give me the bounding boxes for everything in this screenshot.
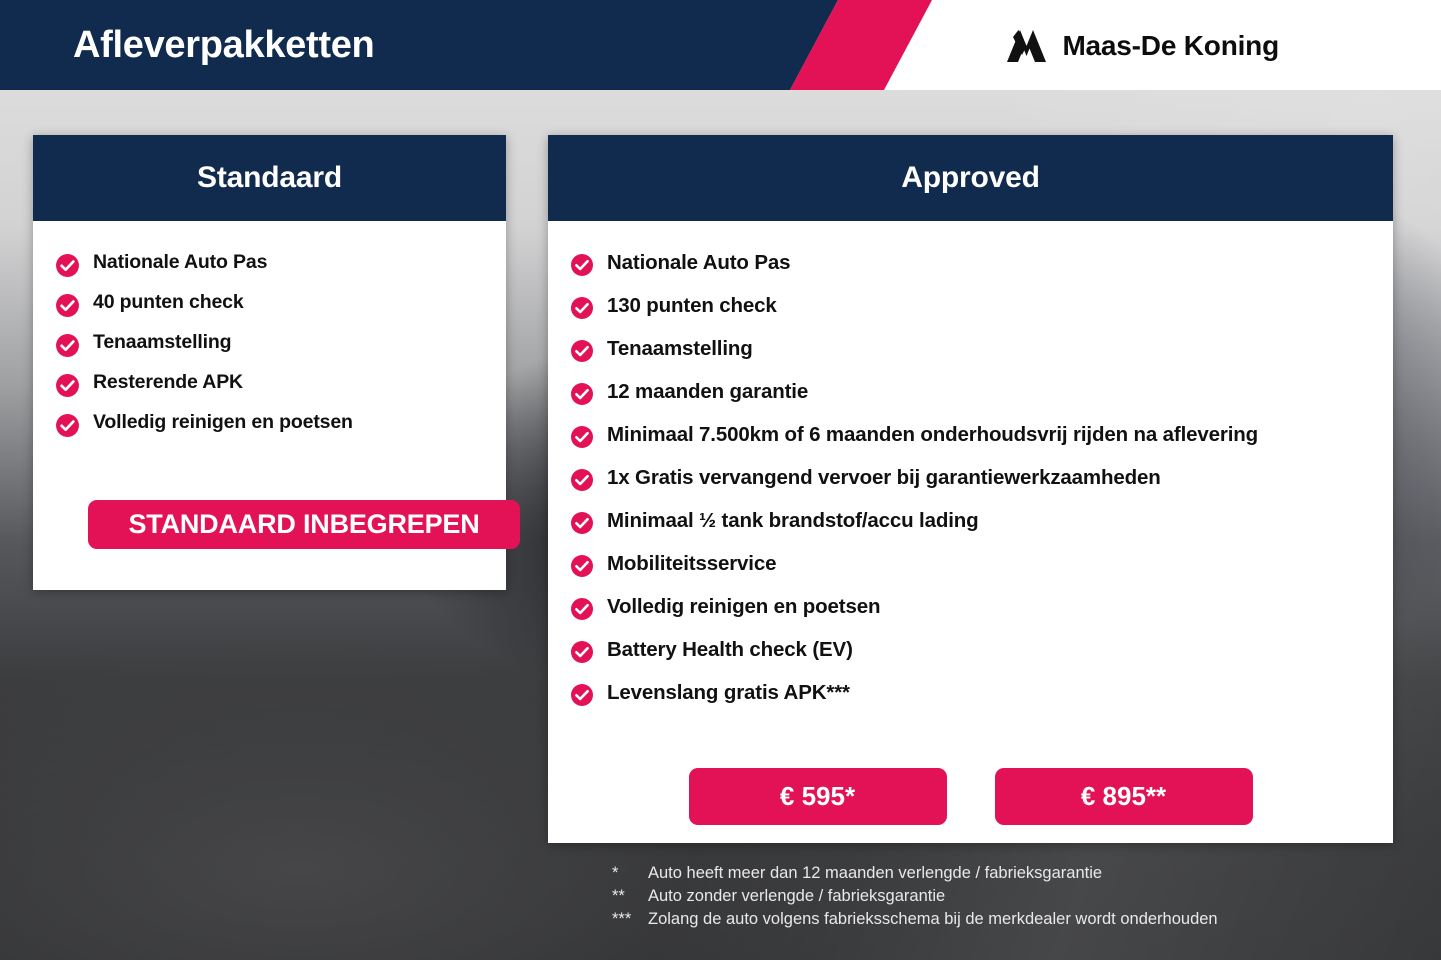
list-item: Tenaamstelling <box>55 330 484 358</box>
footnote-marker: ** <box>612 885 648 908</box>
card-title-approved: Approved <box>901 161 1039 195</box>
check-circle-icon <box>570 597 594 621</box>
check-circle-icon <box>570 554 594 578</box>
footnote-item: * Auto heeft meer dan 12 maanden verleng… <box>612 862 1218 885</box>
brand-name: Maas-De Koning <box>1062 30 1279 62</box>
slide-root: Afleverpakketten Maas-De Koning Standaar… <box>0 0 1441 960</box>
list-item: Resterende APK <box>55 370 484 398</box>
list-item: 12 maanden garantie <box>570 379 1371 406</box>
feature-label: Tenaamstelling <box>607 336 753 362</box>
feature-label: 130 punten check <box>607 293 777 319</box>
check-circle-icon <box>570 640 594 664</box>
feature-label: 1x Gratis vervangend vervoer bij garanti… <box>607 465 1161 491</box>
footnote-text: Auto heeft meer dan 12 maanden verlengde… <box>648 862 1102 885</box>
maas-de-koning-logo-icon <box>1005 29 1047 63</box>
header-bar: Afleverpakketten Maas-De Koning <box>0 0 1441 90</box>
list-item: Volledig reinigen en poetsen <box>55 410 484 438</box>
list-item: 130 punten check <box>570 293 1371 320</box>
list-item: Levenslang gratis APK*** <box>570 680 1371 707</box>
feature-label: Volledig reinigen en poetsen <box>607 594 880 620</box>
check-circle-icon <box>570 468 594 492</box>
check-circle-icon <box>570 296 594 320</box>
list-item: 1x Gratis vervangend vervoer bij garanti… <box>570 465 1371 492</box>
list-item: Nationale Auto Pas <box>570 250 1371 277</box>
footnote-block: * Auto heeft meer dan 12 maanden verleng… <box>612 862 1218 931</box>
feature-label: Battery Health check (EV) <box>607 637 853 663</box>
footnote-marker: *** <box>612 908 648 931</box>
brand-lockup: Maas-De Koning <box>1005 26 1279 66</box>
footnote-item: *** Zolang de auto volgens fabrieksschem… <box>612 908 1218 931</box>
package-card-standaard: Standaard Nationale Auto Pas 40 punten c… <box>33 135 506 590</box>
feature-label: Tenaamstelling <box>93 330 231 355</box>
price-button-row: € 595* € 895** <box>548 768 1393 825</box>
feature-label: Nationale Auto Pas <box>607 250 790 276</box>
list-item: Mobiliteitsservice <box>570 551 1371 578</box>
check-circle-icon <box>570 683 594 707</box>
check-circle-icon <box>55 333 80 358</box>
check-circle-icon <box>570 511 594 535</box>
check-circle-icon <box>55 413 80 438</box>
list-item: Battery Health check (EV) <box>570 637 1371 664</box>
standaard-inbegrepen-button[interactable]: STANDAARD INBEGREPEN <box>88 500 520 549</box>
card-header-standaard: Standaard <box>33 135 506 221</box>
footnote-item: ** Auto zonder verlengde / fabrieksgaran… <box>612 885 1218 908</box>
check-circle-icon <box>570 339 594 363</box>
feature-label: Resterende APK <box>93 370 243 395</box>
feature-label: Minimaal 7.500km of 6 maanden onderhouds… <box>607 422 1258 448</box>
card-header-approved: Approved <box>548 135 1393 221</box>
feature-label: 40 punten check <box>93 290 244 315</box>
check-circle-icon <box>570 253 594 277</box>
list-item: Minimaal ½ tank brandstof/accu lading <box>570 508 1371 535</box>
check-circle-icon <box>570 382 594 406</box>
feature-label: Levenslang gratis APK*** <box>607 680 850 706</box>
list-item: Volledig reinigen en poetsen <box>570 594 1371 621</box>
check-circle-icon <box>570 425 594 449</box>
check-circle-icon <box>55 293 80 318</box>
feature-label: Mobiliteitsservice <box>607 551 776 577</box>
feature-list-standaard: Nationale Auto Pas 40 punten check Tenaa… <box>33 221 506 438</box>
page-title: Afleverpakketten <box>73 23 374 67</box>
feature-label: Nationale Auto Pas <box>93 250 267 275</box>
check-circle-icon <box>55 373 80 398</box>
feature-label: Minimaal ½ tank brandstof/accu lading <box>607 508 979 534</box>
price-button-895[interactable]: € 895** <box>995 768 1253 825</box>
check-circle-icon <box>55 253 80 278</box>
feature-label: 12 maanden garantie <box>607 379 808 405</box>
price-button-595[interactable]: € 595* <box>689 768 947 825</box>
card-title-standaard: Standaard <box>197 161 342 195</box>
footnote-text: Zolang de auto volgens fabrieksschema bi… <box>648 908 1218 931</box>
list-item: Minimaal 7.500km of 6 maanden onderhouds… <box>570 422 1371 449</box>
list-item: 40 punten check <box>55 290 484 318</box>
feature-label: Volledig reinigen en poetsen <box>93 410 353 435</box>
package-card-approved: Approved Nationale Auto Pas 130 punten c… <box>548 135 1393 843</box>
feature-list-approved: Nationale Auto Pas 130 punten check Tena… <box>548 221 1393 707</box>
list-item: Tenaamstelling <box>570 336 1371 363</box>
footnote-text: Auto zonder verlengde / fabrieksgarantie <box>648 885 945 908</box>
footnote-marker: * <box>612 862 648 885</box>
list-item: Nationale Auto Pas <box>55 250 484 278</box>
